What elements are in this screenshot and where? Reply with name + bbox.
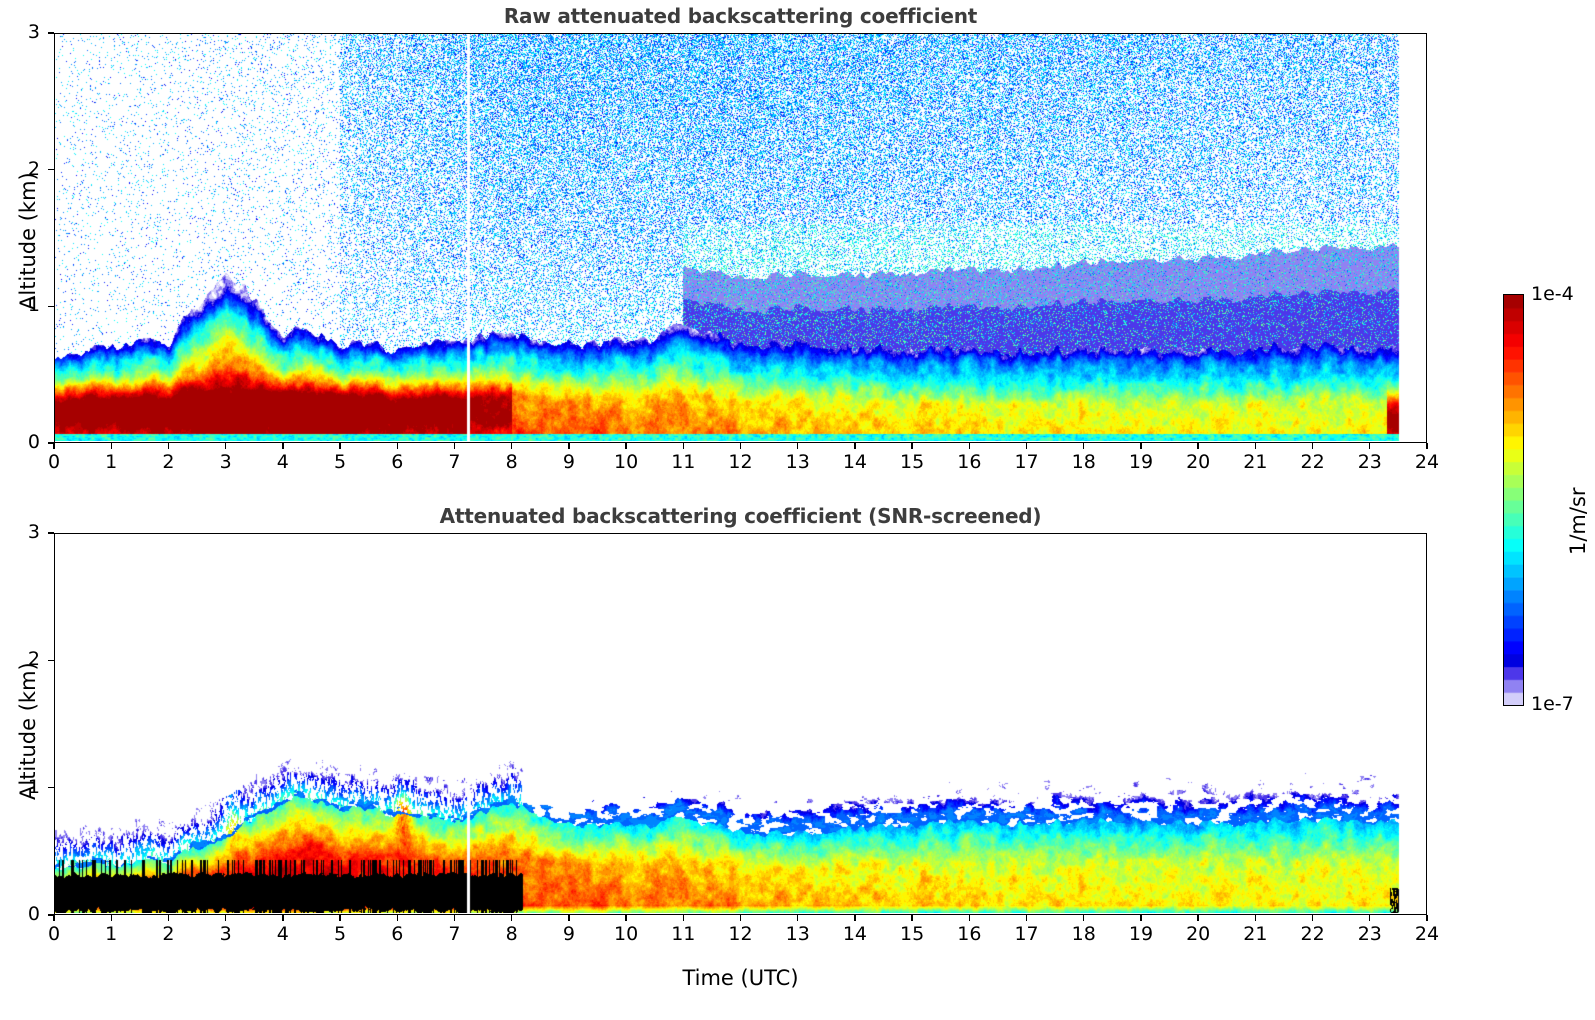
xtick-label-bottom: 15 — [892, 923, 932, 945]
xtick-label-bottom: 13 — [778, 923, 818, 945]
ytick-top — [48, 169, 54, 170]
bottom-panel-heatmap — [55, 534, 1425, 913]
ytick-top — [48, 32, 54, 33]
xtick-label-top: 17 — [1007, 451, 1047, 473]
ytick-top — [48, 442, 54, 443]
xtick-bottom — [397, 915, 398, 921]
top-panel-axes — [54, 33, 1427, 443]
xtick-bottom — [969, 915, 970, 921]
ytick-bottom — [48, 914, 54, 915]
xtick-top — [454, 443, 455, 449]
xtick-label-top: 22 — [1293, 451, 1333, 473]
xtick-top — [911, 443, 912, 449]
xtick-label-top: 19 — [1121, 451, 1161, 473]
xtick-label-bottom: 20 — [1178, 923, 1218, 945]
xtick-label-top: 11 — [663, 451, 703, 473]
xtick-label-bottom: 23 — [1350, 923, 1390, 945]
xtick-label-top: 23 — [1350, 451, 1390, 473]
xtick-top — [53, 443, 54, 449]
xtick-top — [797, 443, 798, 449]
colorbar-unit-label: 1/m/sr — [1566, 487, 1590, 555]
xtick-bottom — [1369, 915, 1370, 921]
xtick-label-top: 20 — [1178, 451, 1218, 473]
xtick-label-bottom: 0 — [34, 923, 74, 945]
xtick-bottom — [282, 915, 283, 921]
xtick-top — [168, 443, 169, 449]
xtick-label-bottom: 1 — [91, 923, 131, 945]
xtick-label-top: 5 — [320, 451, 360, 473]
ytick-label-bottom: 3 — [10, 521, 40, 543]
xtick-top — [740, 443, 741, 449]
ytick-bottom — [48, 532, 54, 533]
xtick-label-bottom: 5 — [320, 923, 360, 945]
xtick-label-top: 4 — [263, 451, 303, 473]
xtick-top — [511, 443, 512, 449]
xtick-top — [282, 443, 283, 449]
xtick-top — [397, 443, 398, 449]
xtick-label-top: 3 — [206, 451, 246, 473]
xtick-top — [1140, 443, 1141, 449]
lidar-figure: Raw attenuated backscattering coefficien… — [0, 0, 1595, 1020]
xtick-label-bottom: 10 — [606, 923, 646, 945]
xtick-top — [1026, 443, 1027, 449]
ytick-label-top: 2 — [10, 158, 40, 180]
xtick-top — [1312, 443, 1313, 449]
xtick-bottom — [225, 915, 226, 921]
xtick-label-bottom: 12 — [721, 923, 761, 945]
xtick-bottom — [53, 915, 54, 921]
xtick-bottom — [511, 915, 512, 921]
xtick-bottom — [1197, 915, 1198, 921]
xtick-label-top: 0 — [34, 451, 74, 473]
xtick-label-top: 8 — [492, 451, 532, 473]
xtick-label-top: 1 — [91, 451, 131, 473]
xtick-top — [683, 443, 684, 449]
bottom-panel-xlabel: Time (UTC) — [54, 966, 1427, 990]
xtick-label-bottom: 11 — [663, 923, 703, 945]
xtick-bottom — [1312, 915, 1313, 921]
xtick-label-bottom: 21 — [1235, 923, 1275, 945]
xtick-label-top: 13 — [778, 451, 818, 473]
xtick-top — [568, 443, 569, 449]
xtick-bottom — [1083, 915, 1084, 921]
xtick-label-top: 2 — [148, 451, 188, 473]
xtick-label-bottom: 6 — [377, 923, 417, 945]
xtick-label-bottom: 22 — [1293, 923, 1333, 945]
xtick-label-top: 16 — [949, 451, 989, 473]
xtick-bottom — [1140, 915, 1141, 921]
xtick-label-bottom: 14 — [835, 923, 875, 945]
xtick-label-top: 15 — [892, 451, 932, 473]
xtick-label-top: 7 — [434, 451, 474, 473]
xtick-top — [339, 443, 340, 449]
xtick-bottom — [854, 915, 855, 921]
top-panel-heatmap — [55, 34, 1425, 441]
colorbar-max-label: 1e-4 — [1531, 283, 1574, 305]
xtick-label-bottom: 8 — [492, 923, 532, 945]
bottom-panel-axes — [54, 533, 1427, 915]
xtick-top — [111, 443, 112, 449]
xtick-top — [225, 443, 226, 449]
xtick-label-top: 9 — [549, 451, 589, 473]
xtick-bottom — [797, 915, 798, 921]
xtick-top — [854, 443, 855, 449]
xtick-label-bottom: 24 — [1407, 923, 1447, 945]
ytick-label-bottom: 2 — [10, 648, 40, 670]
xtick-label-bottom: 2 — [148, 923, 188, 945]
xtick-top — [1426, 443, 1427, 449]
xtick-label-bottom: 17 — [1007, 923, 1047, 945]
ytick-label-top: 1 — [10, 294, 40, 316]
xtick-bottom — [454, 915, 455, 921]
xtick-label-bottom: 3 — [206, 923, 246, 945]
colorbar-min-label: 1e-7 — [1531, 693, 1574, 715]
xtick-label-top: 14 — [835, 451, 875, 473]
xtick-label-top: 24 — [1407, 451, 1447, 473]
xtick-top — [1369, 443, 1370, 449]
bottom-panel-title: Attenuated backscattering coefficient (S… — [54, 504, 1427, 528]
xtick-label-bottom: 4 — [263, 923, 303, 945]
xtick-label-top: 18 — [1064, 451, 1104, 473]
xtick-label-top: 6 — [377, 451, 417, 473]
xtick-bottom — [740, 915, 741, 921]
ytick-bottom — [48, 660, 54, 661]
xtick-label-top: 12 — [721, 451, 761, 473]
ytick-label-top: 3 — [10, 21, 40, 43]
xtick-top — [1083, 443, 1084, 449]
xtick-label-bottom: 18 — [1064, 923, 1104, 945]
xtick-bottom — [339, 915, 340, 921]
ytick-bottom — [48, 787, 54, 788]
xtick-label-bottom: 9 — [549, 923, 589, 945]
xtick-bottom — [1026, 915, 1027, 921]
xtick-bottom — [911, 915, 912, 921]
xtick-label-top: 21 — [1235, 451, 1275, 473]
xtick-top — [1255, 443, 1256, 449]
colorbar — [1503, 294, 1524, 706]
top-panel-title: Raw attenuated backscattering coefficien… — [54, 4, 1427, 28]
xtick-bottom — [168, 915, 169, 921]
xtick-bottom — [1255, 915, 1256, 921]
xtick-label-top: 10 — [606, 451, 646, 473]
xtick-top — [1197, 443, 1198, 449]
xtick-label-bottom: 16 — [949, 923, 989, 945]
xtick-label-bottom: 7 — [434, 923, 474, 945]
xtick-top — [625, 443, 626, 449]
ytick-label-top: 0 — [10, 431, 40, 453]
xtick-top — [969, 443, 970, 449]
top-panel-ylabel: Altitude (km) — [16, 172, 40, 310]
colorbar-gradient — [1503, 294, 1524, 706]
xtick-bottom — [1426, 915, 1427, 921]
ytick-top — [48, 306, 54, 307]
xtick-bottom — [111, 915, 112, 921]
ytick-label-bottom: 0 — [10, 903, 40, 925]
xtick-bottom — [683, 915, 684, 921]
xtick-bottom — [625, 915, 626, 921]
xtick-label-bottom: 19 — [1121, 923, 1161, 945]
ytick-label-bottom: 1 — [10, 776, 40, 798]
xtick-bottom — [568, 915, 569, 921]
